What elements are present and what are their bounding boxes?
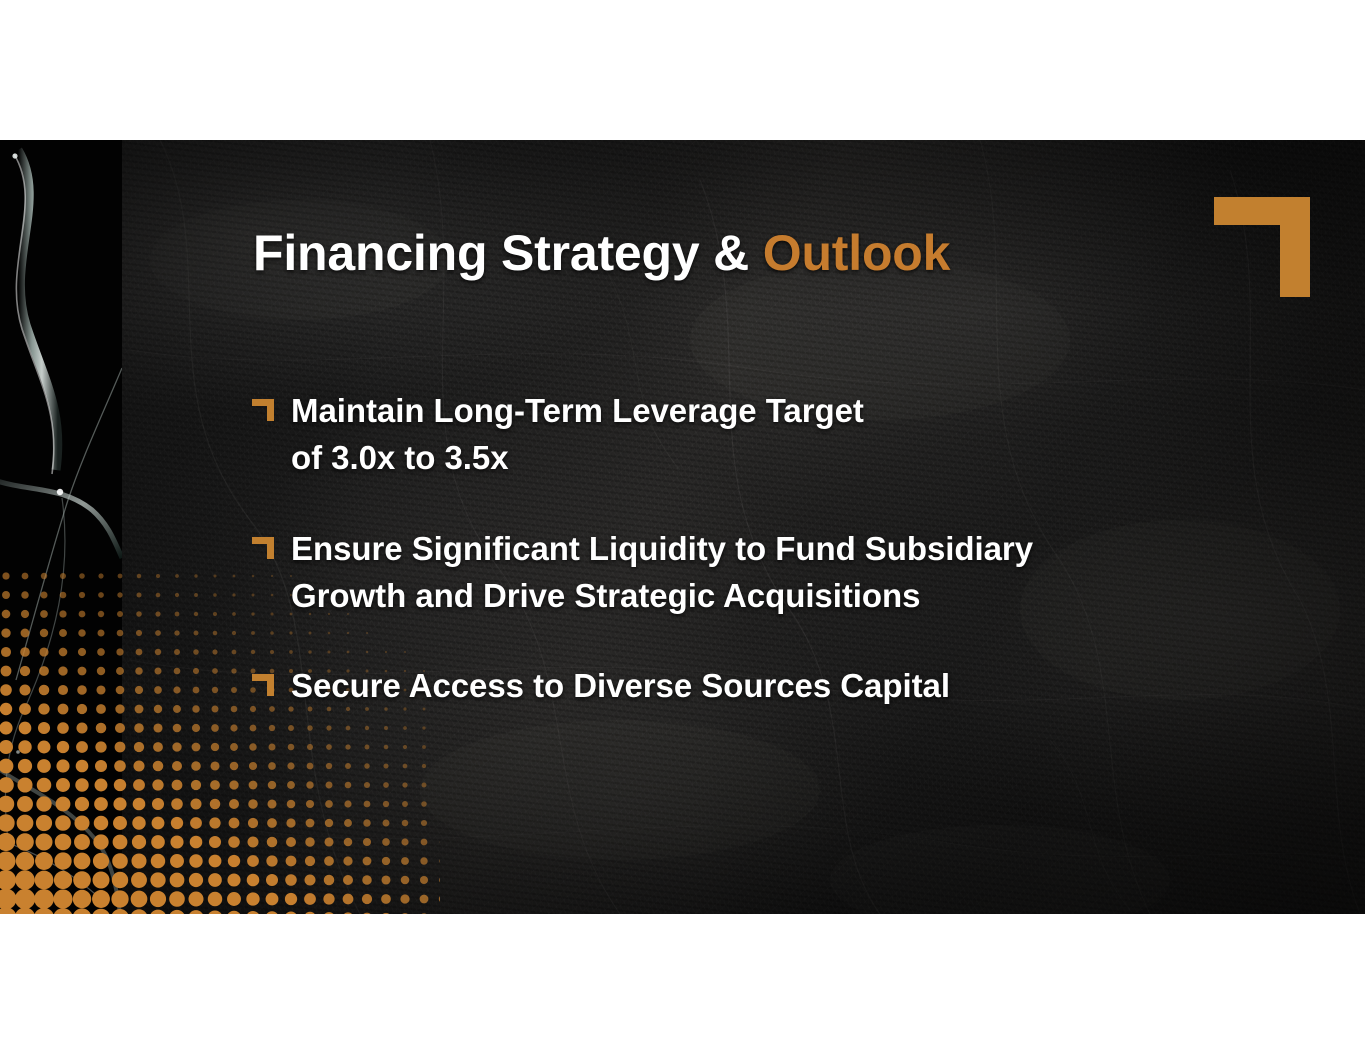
bullet-line: Secure Access to Diverse Sources Capital: [291, 663, 1252, 710]
left-decorative-photo-panel: [0, 140, 122, 914]
bullet-text: Maintain Long-Term Leverage Target of 3.…: [291, 388, 1252, 482]
corner-bracket-icon: [252, 399, 274, 421]
bullet-item: Ensure Significant Liquidity to Fund Sub…: [252, 526, 1252, 620]
slide-title: Financing Strategy & Outlook: [253, 228, 950, 278]
title-accent-text: Outlook: [763, 225, 950, 281]
bullet-item: Maintain Long-Term Leverage Target of 3.…: [252, 388, 1252, 482]
bullet-text: Secure Access to Diverse Sources Capital: [291, 663, 1252, 710]
bullet-item: Secure Access to Diverse Sources Capital: [252, 663, 1252, 710]
abstract-glass-photo: [0, 140, 122, 914]
title-main-text: Financing Strategy &: [253, 225, 763, 281]
bullet-line: of 3.0x to 3.5x: [291, 435, 1252, 482]
bullet-line: Maintain Long-Term Leverage Target: [291, 388, 1252, 435]
slide-canvas: Financing Strategy & Outlook Maintain Lo…: [0, 0, 1365, 1055]
bullet-line: Growth and Drive Strategic Acquisitions: [291, 573, 1252, 620]
bullet-list: Maintain Long-Term Leverage Target of 3.…: [252, 388, 1252, 710]
corner-bracket-logo-icon: [1214, 197, 1310, 297]
bullet-text: Ensure Significant Liquidity to Fund Sub…: [291, 526, 1252, 620]
corner-bracket-icon: [252, 537, 274, 559]
bullet-line: Ensure Significant Liquidity to Fund Sub…: [291, 526, 1252, 573]
presentation-slide: Financing Strategy & Outlook Maintain Lo…: [0, 140, 1365, 914]
corner-bracket-icon: [252, 674, 274, 696]
